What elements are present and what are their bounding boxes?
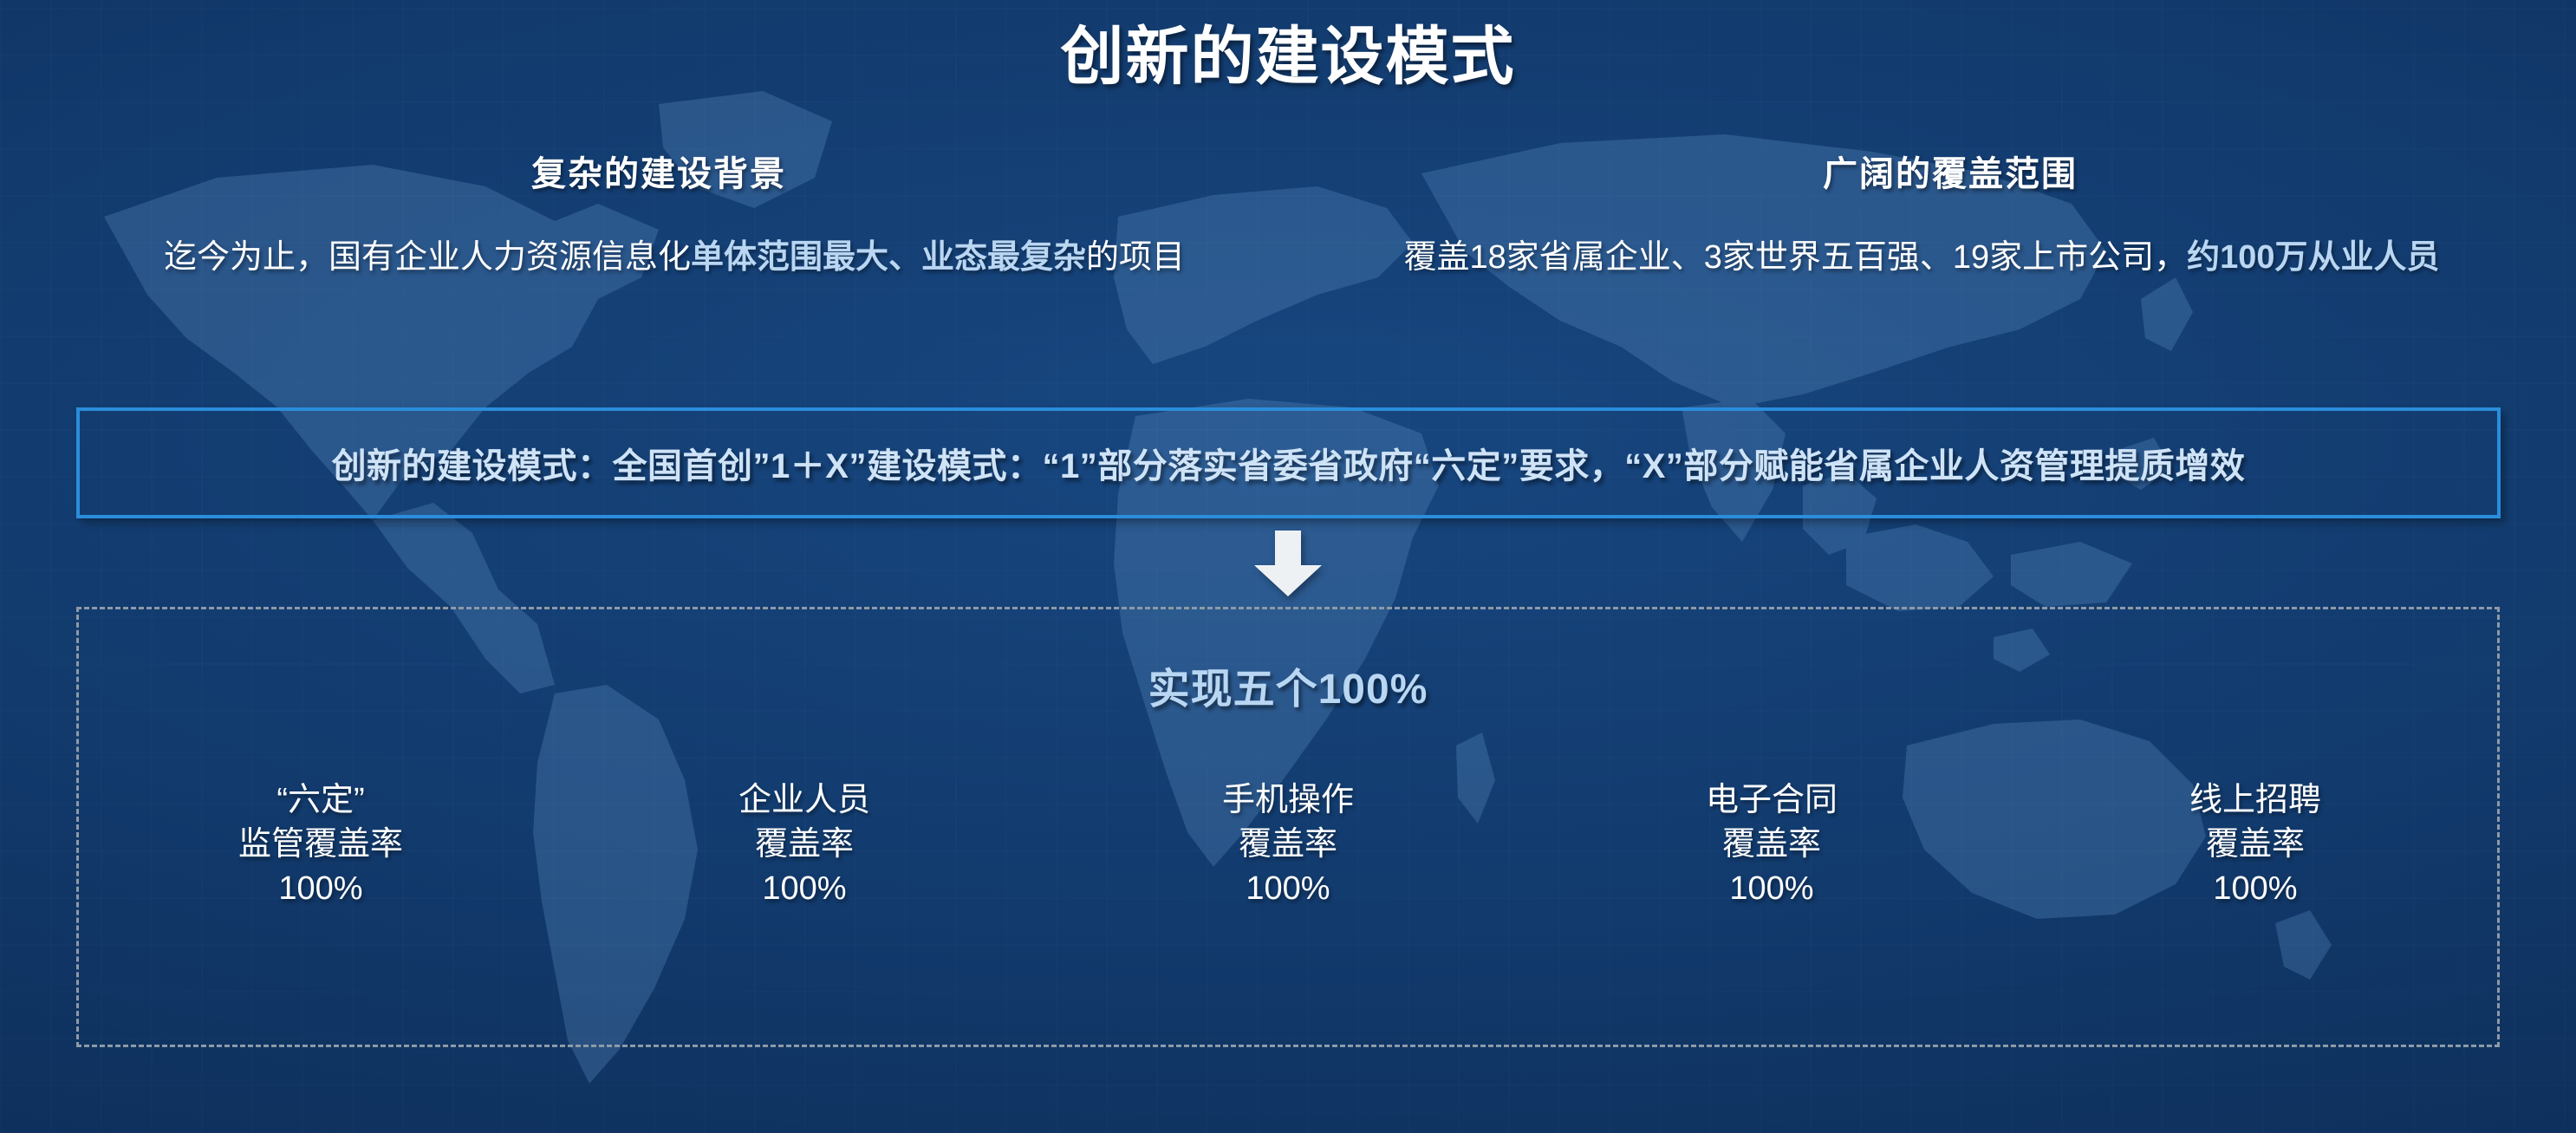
metric-label-line1: 电子合同 [1530,778,2013,823]
metric-value: 100% [79,867,563,911]
metric-label-line2: 覆盖率 [2013,823,2497,867]
metric-label-line2: 覆盖率 [563,823,1046,867]
metric-value: 100% [563,867,1046,911]
metric-value: 100% [2013,867,2497,911]
section-body-left: 迄今为止，国有企业人力资源信息化单体范围最大、业态最复杂的项目 [76,236,1272,280]
metric-label-line1: 手机操作 [1046,778,1530,823]
body-right-highlight: 约100万从业人员 [2187,239,2439,276]
metric-item: “六定” 监管覆盖率 100% [79,778,563,911]
highlight-banner: 创新的建设模式：全国首创”1＋X”建设模式：“1”部分落实省委省政府“六定”要求… [76,407,2501,518]
metric-label-line2: 监管覆盖率 [79,823,563,867]
results-panel: 实现五个100% “六定” 监管覆盖率 100% 企业人员 覆盖率 100% 手… [76,607,2500,1047]
section-heading-right: 广阔的覆盖范围 [1543,146,2358,196]
metric-label-line1: “六定” [79,778,563,823]
page-title: 创新的建设模式 [0,5,2576,97]
body-left-highlight: 单体范围最大、业态最复杂 [691,239,1086,276]
metrics-row: “六定” 监管覆盖率 100% 企业人员 覆盖率 100% 手机操作 覆盖率 1… [79,778,2497,911]
body-right-plain-1: 覆盖18家省属企业、3家世界五百强、19家上市公司， [1403,239,2187,276]
results-panel-title: 实现五个100% [79,654,2497,715]
arrow-down-icon [1251,531,1325,596]
metric-label-line1: 线上招聘 [2013,778,2497,823]
slide-canvas: 创新的建设模式 复杂的建设背景 迄今为止，国有企业人力资源信息化单体范围最大、业… [0,0,2576,1133]
metric-label-line2: 覆盖率 [1530,823,2013,867]
metric-value: 100% [1046,867,1530,911]
metric-label-line1: 企业人员 [563,778,1046,823]
highlight-banner-text: 创新的建设模式：全国首创”1＋X”建设模式：“1”部分落实省委省政府“六定”要求… [332,438,2246,488]
metric-item: 电子合同 覆盖率 100% [1530,778,2013,911]
arrow-container [0,531,2576,596]
metric-value: 100% [1530,867,2013,911]
section-body-right: 覆盖18家省属企业、3家世界五百强、19家上市公司，约100万从业人员 [1345,236,2498,280]
section-heading-left: 复杂的建设背景 [251,146,1066,196]
body-left-plain-1: 迄今为止，国有企业人力资源信息化 [164,239,691,276]
metric-item: 线上招聘 覆盖率 100% [2013,778,2497,911]
metric-item: 企业人员 覆盖率 100% [563,778,1046,911]
body-left-plain-2: 的项目 [1086,239,1185,276]
metric-item: 手机操作 覆盖率 100% [1046,778,1530,911]
metric-label-line2: 覆盖率 [1046,823,1530,867]
